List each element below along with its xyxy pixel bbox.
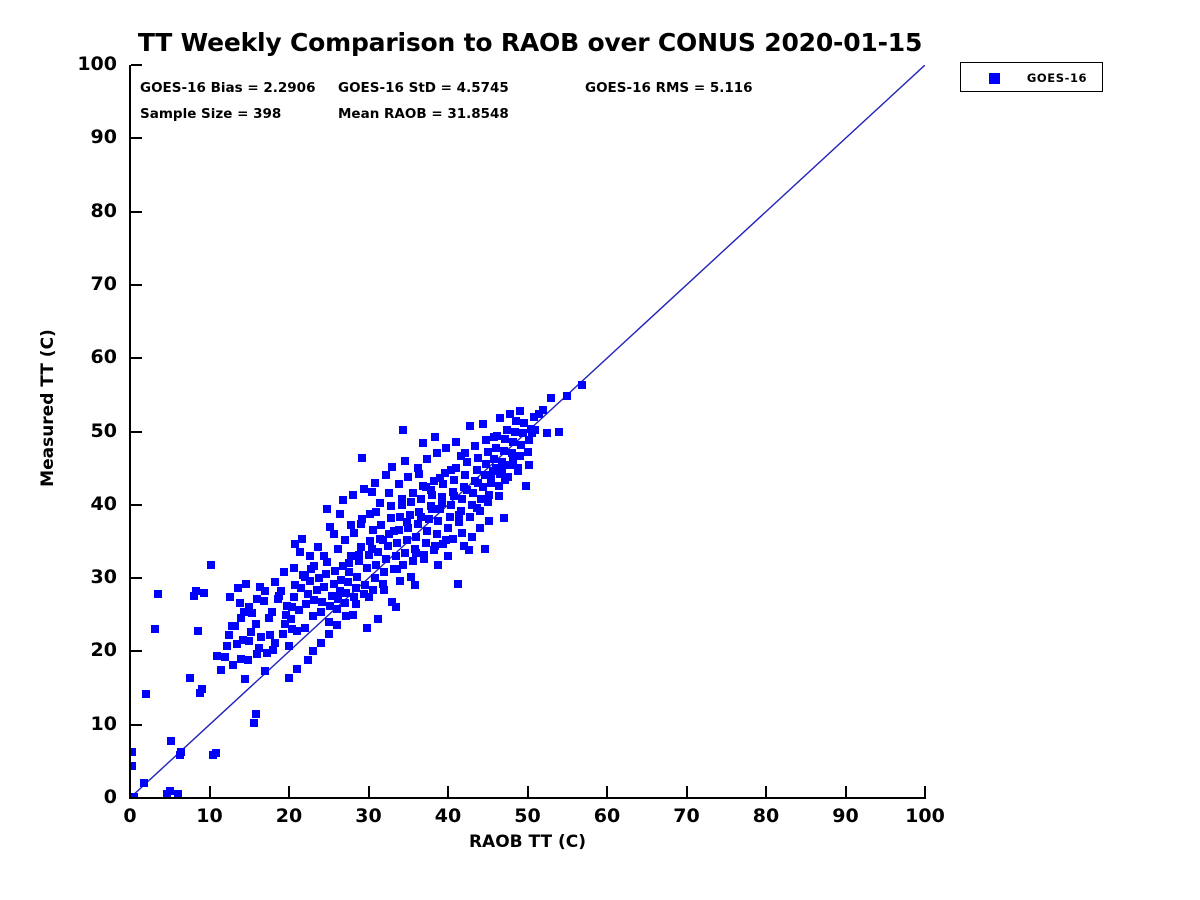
data-point bbox=[279, 630, 287, 638]
data-point bbox=[234, 584, 242, 592]
data-point bbox=[368, 488, 376, 496]
data-point bbox=[320, 552, 328, 560]
data-point bbox=[485, 517, 493, 525]
data-point bbox=[198, 685, 206, 693]
data-point bbox=[442, 444, 450, 452]
data-point bbox=[280, 568, 288, 576]
data-point bbox=[403, 536, 411, 544]
data-point bbox=[460, 542, 468, 550]
data-point bbox=[223, 642, 231, 650]
data-point bbox=[142, 690, 150, 698]
data-point bbox=[347, 521, 355, 529]
data-point bbox=[293, 665, 301, 673]
data-point bbox=[353, 573, 361, 581]
data-point bbox=[423, 527, 431, 535]
data-point bbox=[336, 510, 344, 518]
data-point bbox=[492, 444, 500, 452]
y-tick-label-20: 20 bbox=[55, 639, 117, 661]
data-point bbox=[314, 543, 322, 551]
data-point bbox=[154, 590, 162, 598]
data-point bbox=[271, 639, 279, 647]
y-tick-0 bbox=[131, 797, 142, 799]
x-tick-label-30: 30 bbox=[329, 805, 409, 827]
y-tick-100 bbox=[131, 64, 142, 66]
data-point bbox=[516, 407, 524, 415]
data-point bbox=[192, 587, 200, 595]
data-point bbox=[423, 455, 431, 463]
data-point bbox=[333, 605, 341, 613]
data-point bbox=[447, 501, 455, 509]
data-point bbox=[433, 449, 441, 457]
data-point bbox=[382, 471, 390, 479]
x-tick-90 bbox=[845, 786, 847, 797]
data-point bbox=[412, 549, 420, 557]
data-point bbox=[422, 483, 430, 491]
x-tick-label-10: 10 bbox=[170, 805, 250, 827]
data-point bbox=[409, 489, 417, 497]
x-tick-label-90: 90 bbox=[806, 805, 886, 827]
data-point bbox=[578, 381, 586, 389]
y-tick-20 bbox=[131, 650, 142, 652]
data-point bbox=[514, 467, 522, 475]
data-point bbox=[407, 498, 415, 506]
data-point bbox=[431, 433, 439, 441]
y-tick-label-90: 90 bbox=[55, 126, 117, 148]
data-point bbox=[466, 513, 474, 521]
y-tick-label-100: 100 bbox=[55, 53, 117, 75]
y-tick-label-60: 60 bbox=[55, 346, 117, 368]
data-point bbox=[296, 548, 304, 556]
data-point bbox=[403, 518, 411, 526]
data-point bbox=[450, 492, 458, 500]
y-tick-label-40: 40 bbox=[55, 493, 117, 515]
data-point bbox=[207, 561, 215, 569]
data-point bbox=[333, 621, 341, 629]
data-point bbox=[458, 529, 466, 537]
data-point bbox=[372, 508, 380, 516]
data-point bbox=[454, 580, 462, 588]
data-point bbox=[455, 518, 463, 526]
data-point bbox=[244, 656, 252, 664]
data-point bbox=[452, 438, 460, 446]
data-point bbox=[266, 631, 274, 639]
data-point bbox=[525, 436, 533, 444]
data-point bbox=[444, 524, 452, 532]
data-point bbox=[317, 608, 325, 616]
data-point bbox=[468, 533, 476, 541]
x-tick-label-60: 60 bbox=[567, 805, 647, 827]
data-point bbox=[302, 600, 310, 608]
data-point bbox=[417, 495, 425, 503]
data-point bbox=[498, 466, 506, 474]
data-point bbox=[500, 447, 508, 455]
data-point bbox=[213, 652, 221, 660]
data-point bbox=[368, 545, 376, 553]
data-point bbox=[334, 545, 342, 553]
y-tick-40 bbox=[131, 504, 142, 506]
data-point bbox=[531, 426, 539, 434]
data-point bbox=[177, 748, 185, 756]
data-point bbox=[417, 513, 425, 521]
data-point bbox=[325, 630, 333, 638]
data-point bbox=[511, 428, 519, 436]
x-tick-label-70: 70 bbox=[647, 805, 727, 827]
data-point bbox=[474, 479, 482, 487]
data-point bbox=[317, 639, 325, 647]
data-point bbox=[310, 562, 318, 570]
data-point bbox=[392, 552, 400, 560]
data-point bbox=[282, 611, 290, 619]
data-point bbox=[487, 471, 495, 479]
data-point bbox=[487, 479, 495, 487]
data-point bbox=[415, 470, 423, 478]
data-point bbox=[295, 606, 303, 614]
x-tick-label-100: 100 bbox=[885, 805, 965, 827]
data-point bbox=[255, 644, 263, 652]
data-point bbox=[401, 549, 409, 557]
data-point bbox=[490, 433, 498, 441]
data-point bbox=[261, 667, 269, 675]
y-tick-50 bbox=[131, 431, 142, 433]
data-point bbox=[304, 656, 312, 664]
data-point bbox=[217, 666, 225, 674]
data-point bbox=[430, 546, 438, 554]
x-tick-80 bbox=[765, 786, 767, 797]
data-point bbox=[226, 593, 234, 601]
data-point bbox=[428, 505, 436, 513]
data-point bbox=[374, 615, 382, 623]
data-point bbox=[473, 466, 481, 474]
data-point bbox=[399, 426, 407, 434]
data-point bbox=[388, 463, 396, 471]
x-axis-line bbox=[129, 797, 926, 799]
data-point bbox=[476, 524, 484, 532]
data-point bbox=[501, 476, 509, 484]
data-point bbox=[419, 439, 427, 447]
data-point bbox=[390, 527, 398, 535]
y-tick-60 bbox=[131, 357, 142, 359]
y-tick-label-70: 70 bbox=[55, 273, 117, 295]
data-point bbox=[236, 599, 244, 607]
y-tick-label-50: 50 bbox=[55, 420, 117, 442]
legend-label-goes-16: GOES-16 bbox=[1013, 71, 1101, 85]
data-point bbox=[320, 583, 328, 591]
x-tick-label-40: 40 bbox=[408, 805, 488, 827]
data-point bbox=[363, 624, 371, 632]
data-point bbox=[341, 599, 349, 607]
data-point bbox=[290, 593, 298, 601]
data-point bbox=[372, 561, 380, 569]
data-point bbox=[439, 540, 447, 548]
data-point bbox=[479, 420, 487, 428]
data-point bbox=[522, 482, 530, 490]
data-point bbox=[398, 495, 406, 503]
data-point bbox=[543, 429, 551, 437]
data-point bbox=[309, 647, 317, 655]
data-point bbox=[474, 454, 482, 462]
data-point bbox=[365, 593, 373, 601]
legend: GOES-16 bbox=[960, 62, 1103, 92]
data-point bbox=[271, 578, 279, 586]
y-axis-label: Measured TT (C) bbox=[38, 308, 58, 508]
x-tick-50 bbox=[527, 786, 529, 797]
legend-swatch-goes-16 bbox=[989, 73, 1000, 84]
y-tick-90 bbox=[131, 137, 142, 139]
data-point bbox=[392, 603, 400, 611]
data-point bbox=[495, 492, 503, 500]
data-point bbox=[250, 719, 258, 727]
data-point bbox=[404, 473, 412, 481]
data-point bbox=[342, 589, 350, 597]
data-point bbox=[330, 530, 338, 538]
data-point bbox=[496, 414, 504, 422]
data-point bbox=[482, 436, 490, 444]
data-point bbox=[345, 568, 353, 576]
data-point bbox=[380, 568, 388, 576]
data-point bbox=[350, 529, 358, 537]
data-point bbox=[288, 625, 296, 633]
data-point bbox=[323, 505, 331, 513]
scatter-plot-figure: TT Weekly Comparison to RAOB over CONUS … bbox=[0, 0, 1200, 900]
data-point bbox=[490, 455, 498, 463]
data-point bbox=[444, 552, 452, 560]
x-tick-10 bbox=[209, 786, 211, 797]
data-point bbox=[275, 592, 283, 600]
data-point bbox=[256, 583, 264, 591]
data-point bbox=[371, 479, 379, 487]
data-point bbox=[414, 520, 422, 528]
data-point bbox=[310, 596, 318, 604]
data-point bbox=[433, 530, 441, 538]
data-point bbox=[339, 496, 347, 504]
data-point bbox=[252, 710, 260, 718]
data-point bbox=[385, 489, 393, 497]
data-point bbox=[434, 561, 442, 569]
data-point bbox=[377, 521, 385, 529]
data-point bbox=[166, 787, 174, 795]
data-point bbox=[291, 540, 299, 548]
data-point bbox=[434, 517, 442, 525]
data-point bbox=[376, 499, 384, 507]
x-tick-30 bbox=[368, 786, 370, 797]
data-point bbox=[285, 674, 293, 682]
data-point bbox=[309, 612, 317, 620]
y-tick-10 bbox=[131, 724, 142, 726]
data-point bbox=[140, 779, 148, 787]
data-point bbox=[425, 515, 433, 523]
data-point bbox=[352, 600, 360, 608]
data-point bbox=[231, 622, 239, 630]
data-point bbox=[547, 394, 555, 402]
data-point bbox=[438, 499, 446, 507]
data-point bbox=[358, 515, 366, 523]
x-tick-label-20: 20 bbox=[249, 805, 329, 827]
data-point bbox=[422, 539, 430, 547]
data-point bbox=[447, 466, 455, 474]
x-tick-label-50: 50 bbox=[488, 805, 568, 827]
data-point bbox=[411, 581, 419, 589]
data-point bbox=[457, 452, 465, 460]
data-point bbox=[325, 618, 333, 626]
data-point bbox=[360, 485, 368, 493]
data-point bbox=[318, 598, 326, 606]
data-point bbox=[463, 486, 471, 494]
data-point bbox=[371, 574, 379, 582]
data-point bbox=[344, 578, 352, 586]
data-point bbox=[363, 564, 371, 572]
data-point bbox=[471, 442, 479, 450]
data-point bbox=[285, 642, 293, 650]
data-point bbox=[450, 476, 458, 484]
x-tick-60 bbox=[606, 786, 608, 797]
data-point bbox=[253, 595, 261, 603]
data-point bbox=[525, 461, 533, 469]
data-point bbox=[524, 448, 532, 456]
data-point bbox=[409, 557, 417, 565]
data-point bbox=[449, 535, 457, 543]
data-point bbox=[509, 457, 517, 465]
data-point bbox=[212, 749, 220, 757]
data-point bbox=[563, 392, 571, 400]
data-point bbox=[301, 624, 309, 632]
data-point bbox=[349, 491, 357, 499]
x-tick-70 bbox=[686, 786, 688, 797]
data-point bbox=[229, 661, 237, 669]
data-point bbox=[420, 555, 428, 563]
x-axis-label: RAOB TT (C) bbox=[130, 832, 925, 852]
data-point bbox=[503, 426, 511, 434]
data-point bbox=[369, 526, 377, 534]
x-tick-0 bbox=[129, 786, 131, 797]
plot-area bbox=[130, 65, 925, 798]
data-point bbox=[301, 573, 309, 581]
y-tick-label-10: 10 bbox=[55, 713, 117, 735]
data-point bbox=[473, 504, 481, 512]
data-point bbox=[322, 570, 330, 578]
data-point bbox=[458, 495, 466, 503]
data-point bbox=[342, 612, 350, 620]
data-point bbox=[268, 608, 276, 616]
data-point bbox=[481, 545, 489, 553]
y-tick-label-30: 30 bbox=[55, 566, 117, 588]
data-point bbox=[387, 502, 395, 510]
data-point bbox=[252, 620, 260, 628]
data-point bbox=[240, 608, 248, 616]
data-point bbox=[241, 675, 249, 683]
x-tick-20 bbox=[288, 786, 290, 797]
data-point bbox=[461, 471, 469, 479]
x-tick-40 bbox=[447, 786, 449, 797]
data-point bbox=[395, 480, 403, 488]
data-point bbox=[446, 513, 454, 521]
data-point bbox=[167, 737, 175, 745]
data-point bbox=[200, 589, 208, 597]
data-point bbox=[393, 539, 401, 547]
x-tick-label-0: 0 bbox=[90, 805, 170, 827]
data-point bbox=[509, 438, 517, 446]
page-title: TT Weekly Comparison to RAOB over CONUS … bbox=[0, 28, 1060, 57]
data-point bbox=[345, 559, 353, 567]
data-point bbox=[407, 573, 415, 581]
data-point bbox=[484, 498, 492, 506]
data-point bbox=[361, 581, 369, 589]
data-point bbox=[500, 514, 508, 522]
data-point bbox=[242, 580, 250, 588]
data-point bbox=[225, 631, 233, 639]
data-point bbox=[151, 625, 159, 633]
data-point bbox=[380, 586, 388, 594]
data-point bbox=[455, 511, 463, 519]
data-point bbox=[257, 633, 265, 641]
data-point bbox=[412, 533, 420, 541]
data-point bbox=[247, 628, 255, 636]
data-point bbox=[290, 564, 298, 572]
x-tick-100 bbox=[924, 786, 926, 797]
data-point bbox=[501, 435, 509, 443]
data-point bbox=[539, 406, 547, 414]
data-point bbox=[341, 536, 349, 544]
y-tick-label-80: 80 bbox=[55, 200, 117, 222]
data-point bbox=[401, 457, 409, 465]
data-point bbox=[396, 577, 404, 585]
data-point bbox=[306, 552, 314, 560]
data-point bbox=[269, 646, 277, 654]
data-point bbox=[194, 627, 202, 635]
data-point bbox=[436, 474, 444, 482]
data-point bbox=[506, 410, 514, 418]
data-point bbox=[512, 417, 520, 425]
data-point bbox=[387, 514, 395, 522]
y-tick-70 bbox=[131, 284, 142, 286]
data-point bbox=[466, 422, 474, 430]
data-point bbox=[352, 584, 360, 592]
data-point bbox=[245, 637, 253, 645]
y-tick-80 bbox=[131, 211, 142, 213]
data-point bbox=[355, 551, 363, 559]
data-point bbox=[331, 567, 339, 575]
data-point bbox=[555, 428, 563, 436]
x-tick-label-80: 80 bbox=[726, 805, 806, 827]
data-point bbox=[382, 555, 390, 563]
data-point bbox=[326, 523, 334, 531]
data-point bbox=[530, 413, 538, 421]
data-point bbox=[358, 454, 366, 462]
data-point bbox=[186, 674, 194, 682]
y-tick-30 bbox=[131, 577, 142, 579]
data-point bbox=[221, 653, 229, 661]
data-point bbox=[379, 536, 387, 544]
data-point bbox=[393, 565, 401, 573]
